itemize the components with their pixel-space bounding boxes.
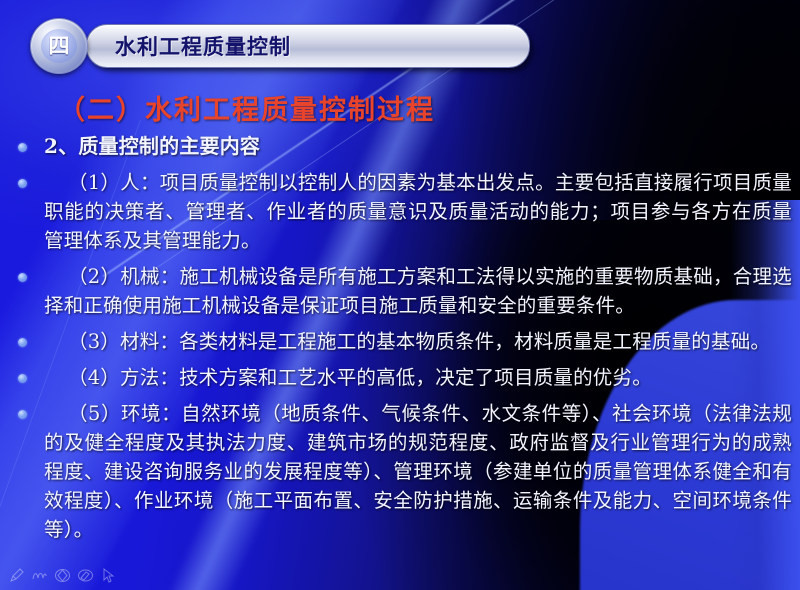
bullet-text: （5）环境：自然环境（地质条件、气候条件、水文条件等）、社会环境（法律法规的及健… xyxy=(44,399,792,544)
bullet-text: （2）机械：施工机械设备是所有施工方案和工法得以实施的重要物质基础，合理选择和正… xyxy=(44,262,792,320)
section-title-text: 水利工程质量控制 xyxy=(115,31,291,61)
section-number-badge: 四 xyxy=(30,18,88,74)
bullet-dot-icon xyxy=(18,273,27,282)
bullet-dot-icon xyxy=(18,143,27,152)
bullet-text: （3）材料：各类材料是工程施工的基本物质条件，材料质量是工程质量的基础。 xyxy=(44,327,792,356)
bullet-dot-icon xyxy=(18,338,27,347)
section-number-badge-inner: 四 xyxy=(41,29,77,63)
slide-header: 水利工程质量控制 四 xyxy=(0,18,800,80)
bullet-item-environment: （5）环境：自然环境（地质条件、气候条件、水文条件等）、社会环境（法律法规的及健… xyxy=(0,399,800,544)
shape-icon[interactable] xyxy=(54,567,71,584)
bullet-item-main-content: 2、质量控制的主要内容 xyxy=(0,132,800,161)
bullet-text: （4）方法：技术方案和工艺水平的高低，决定了项目质量的优劣。 xyxy=(44,363,792,392)
slide-subtitle: （二）水利工程质量控制过程 xyxy=(58,88,435,127)
bullet-item-machinery: （2）机械：施工机械设备是所有施工方案和工法得以实施的重要物质基础，合理选择和正… xyxy=(0,262,800,320)
pointer-icon[interactable] xyxy=(100,567,117,584)
bullet-dot-icon xyxy=(18,179,27,188)
scribble-icon[interactable] xyxy=(31,567,48,584)
slide-body: 2、质量控制的主要内容 （1）人：项目质量控制以控制人的因素为基本出发点。主要包… xyxy=(0,132,800,551)
bullet-text: （1）人：项目质量控制以控制人的因素为基本出发点。主要包括直接履行项目质量职能的… xyxy=(44,168,792,255)
bullet-text: 2、质量控制的主要内容 xyxy=(44,132,792,161)
bullet-item-materials: （3）材料：各类材料是工程施工的基本物质条件，材料质量是工程质量的基础。 xyxy=(0,327,800,356)
section-number-text: 四 xyxy=(49,36,70,57)
bullet-item-methods: （4）方法：技术方案和工艺水平的高低，决定了项目质量的优劣。 xyxy=(0,363,800,392)
section-title-bar: 水利工程质量控制 xyxy=(86,24,530,68)
slide-nav-icons[interactable] xyxy=(8,567,117,584)
presentation-slide: 水利工程质量控制 四 （二）水利工程质量控制过程 2、质量控制的主要内容 （1）… xyxy=(0,0,800,590)
bullet-item-people: （1）人：项目质量控制以控制人的因素为基本出发点。主要包括直接履行项目质量职能的… xyxy=(0,168,800,255)
bullet-dot-icon xyxy=(18,410,27,419)
bullet-dot-icon xyxy=(18,374,27,383)
highlight-icon[interactable] xyxy=(77,567,94,584)
pen-icon[interactable] xyxy=(8,567,25,584)
